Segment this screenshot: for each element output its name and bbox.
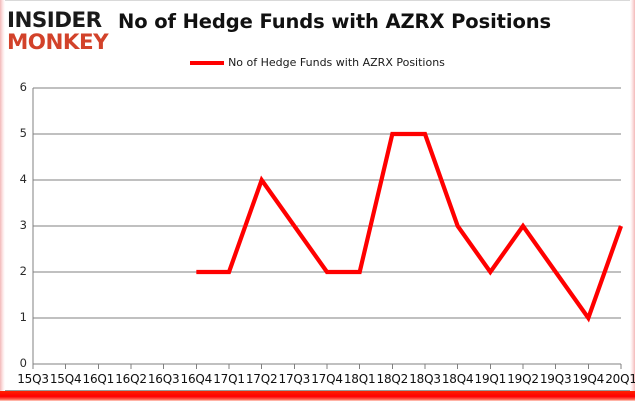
y-axis-label: 0 bbox=[5, 356, 27, 370]
x-axis-label: 16Q4 bbox=[179, 372, 213, 386]
grid-lines bbox=[33, 88, 621, 364]
y-axis-label: 6 bbox=[5, 80, 27, 94]
x-axis-label: 19Q2 bbox=[506, 372, 540, 386]
x-axis-label: 15Q4 bbox=[49, 372, 83, 386]
y-axis-label: 5 bbox=[5, 126, 27, 140]
x-axis-label: 17Q3 bbox=[277, 372, 311, 386]
chart-plot-area: 012345615Q315Q416Q116Q216Q316Q417Q117Q21… bbox=[0, 0, 635, 405]
x-axis-label: 16Q1 bbox=[81, 372, 115, 386]
x-axis-label: 18Q2 bbox=[375, 372, 409, 386]
x-axis-label: 17Q2 bbox=[245, 372, 279, 386]
x-axis-label: 17Q1 bbox=[212, 372, 246, 386]
y-axis-label: 1 bbox=[5, 310, 27, 324]
x-axis-label: 18Q3 bbox=[408, 372, 442, 386]
chart-page: INSIDER MONKEY No of Hedge Funds with AZ… bbox=[0, 0, 635, 405]
x-axis-ticks bbox=[33, 364, 621, 369]
y-axis-label: 3 bbox=[5, 218, 27, 232]
x-axis-label: 19Q1 bbox=[473, 372, 507, 386]
x-axis-label: 20Q1 bbox=[604, 372, 635, 386]
x-axis-label: 17Q4 bbox=[310, 372, 344, 386]
x-axis-label: 15Q3 bbox=[16, 372, 50, 386]
y-axis-label: 2 bbox=[5, 264, 27, 278]
x-axis-label: 16Q2 bbox=[114, 372, 148, 386]
chart-svg bbox=[0, 0, 635, 405]
x-axis-label: 16Q3 bbox=[147, 372, 181, 386]
x-axis-label: 18Q1 bbox=[343, 372, 377, 386]
x-axis-label: 18Q4 bbox=[441, 372, 475, 386]
x-axis-label: 19Q4 bbox=[571, 372, 605, 386]
x-axis-label: 19Q3 bbox=[539, 372, 573, 386]
y-axis-label: 4 bbox=[5, 172, 27, 186]
